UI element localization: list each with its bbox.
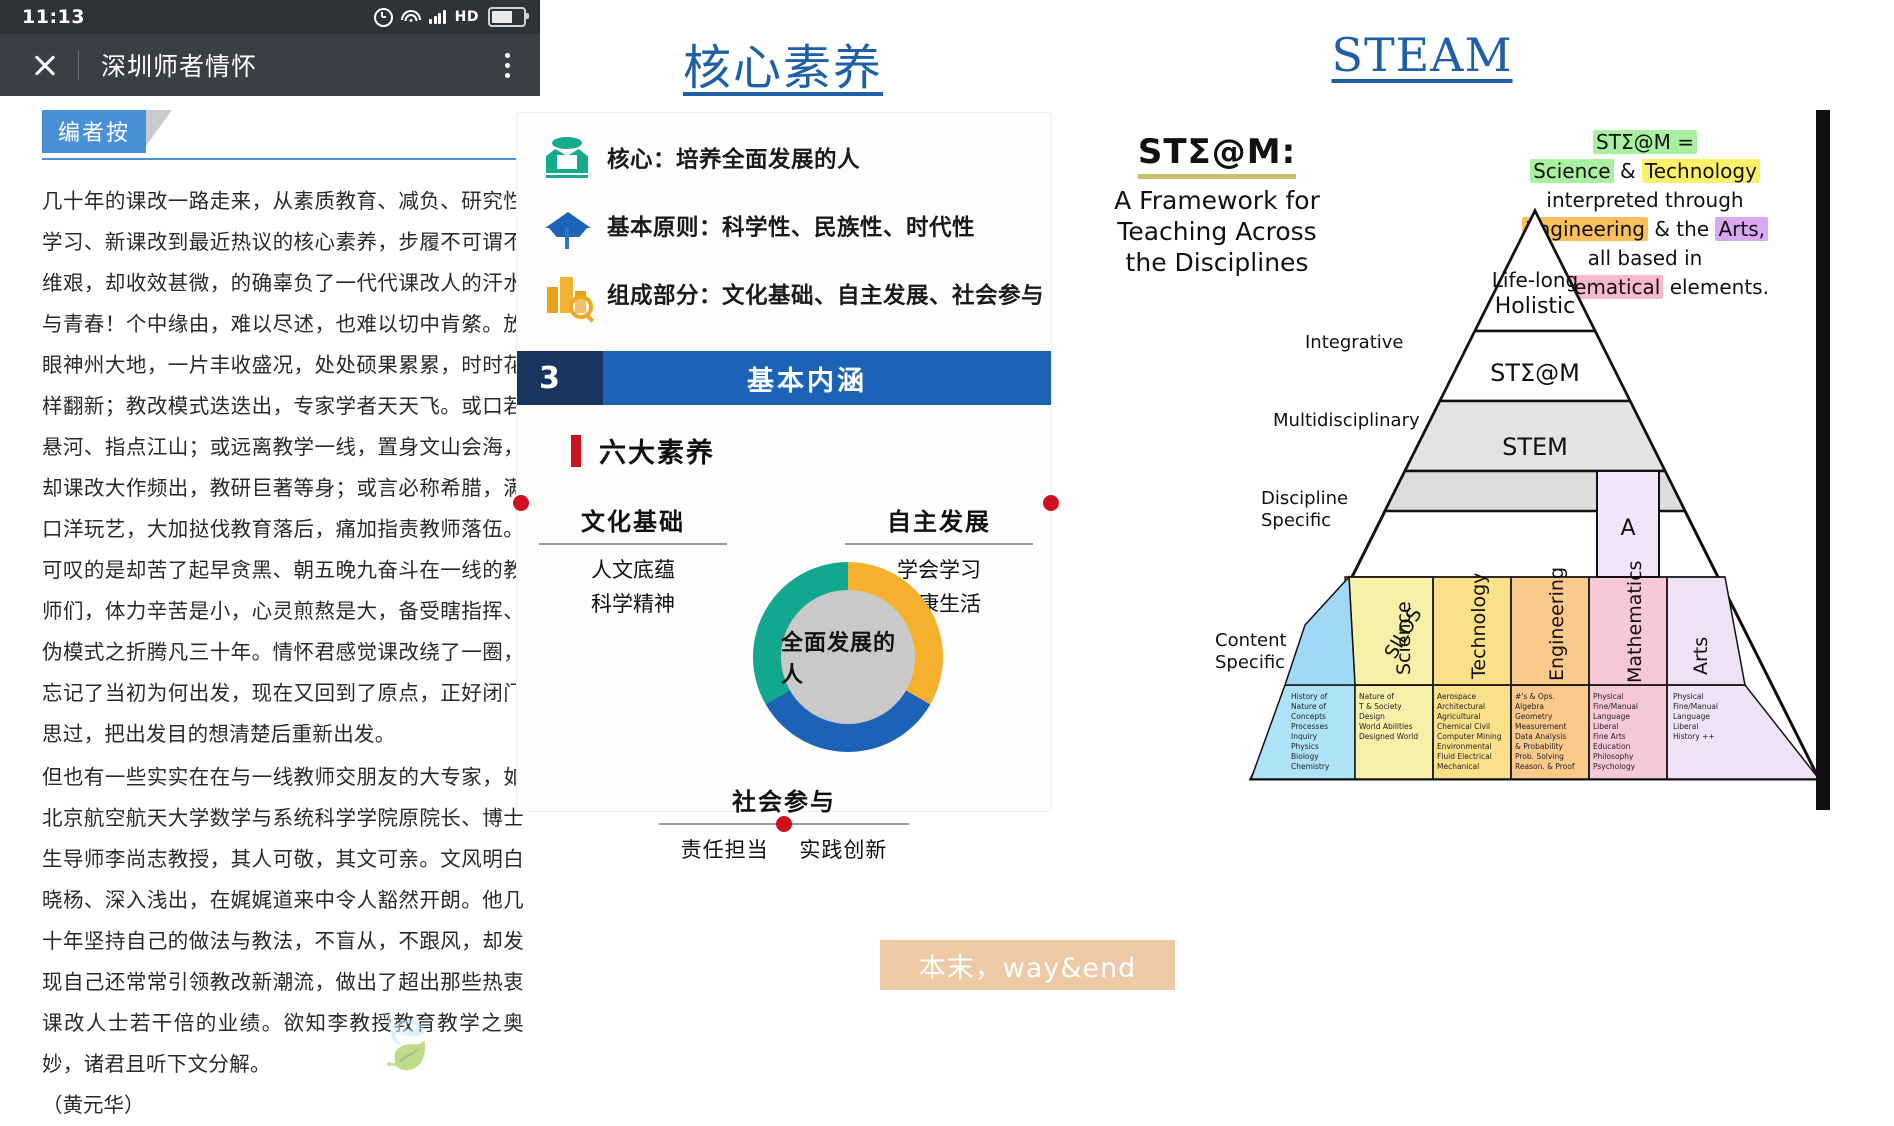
steam-heading-main: STΣ@M:	[1138, 132, 1296, 179]
svg-text:Nature of: Nature of	[1291, 702, 1326, 711]
tier-label-1: STΣ@M	[1490, 359, 1580, 387]
svg-text:Fine/Manual: Fine/Manual	[1593, 702, 1638, 711]
article-signature: （黄元华）	[42, 1085, 540, 1126]
person-reading-icon	[543, 135, 593, 181]
svg-text:Aerospace: Aerospace	[1437, 692, 1477, 701]
svg-text:Agricultural: Agricultural	[1437, 712, 1480, 721]
tier-label-arts: A	[1620, 516, 1635, 541]
svg-text:History of: History of	[1291, 692, 1328, 701]
bullet-label-components: 组成部分：文化基础、自主发展、社会参与	[607, 278, 1044, 310]
svg-text:Biology: Biology	[1291, 752, 1319, 761]
wifi-icon	[402, 10, 420, 24]
group-items-social: 责任担当 实践创新	[659, 833, 909, 867]
tag-fold-shape	[146, 110, 172, 146]
svg-text:Algebra: Algebra	[1515, 702, 1544, 711]
group-underline-social	[659, 823, 909, 825]
group-title-self: 自主发展	[845, 502, 1033, 537]
phone-status-bar: 11:13 HD	[0, 0, 540, 34]
donut-center-label: 全面发展的人	[781, 625, 915, 689]
svg-text:Nature of: Nature of	[1359, 692, 1394, 701]
svg-text:Mechanical: Mechanical	[1437, 762, 1479, 771]
column-label-technology: Technology	[1468, 573, 1490, 680]
svg-text:Data Analysis: Data Analysis	[1515, 732, 1566, 741]
svg-text:Measurement: Measurement	[1515, 722, 1567, 731]
bullet-item-core: 核心：培养全面发展的人	[517, 135, 1051, 181]
group-item-social-1: 责任担当	[681, 838, 769, 862]
section-header: 3 基本内涵	[517, 351, 1051, 405]
side-label-content-specific: Content Specific	[1215, 630, 1311, 674]
group-item-culture-2: 科学精神	[539, 587, 727, 621]
svg-text:Geometry: Geometry	[1515, 712, 1553, 721]
more-vertical-icon[interactable]	[505, 53, 510, 78]
bottom-caption: 本末，way&end	[880, 940, 1175, 990]
svg-text:Computer Mining: Computer Mining	[1437, 732, 1502, 741]
svg-text:Fluid Electrical: Fluid Electrical	[1437, 752, 1492, 761]
svg-text:Environmental: Environmental	[1437, 742, 1492, 751]
status-time: 11:13	[22, 6, 85, 28]
six-literacies-title: 六大素养	[599, 431, 715, 470]
svg-text:Language: Language	[1673, 712, 1710, 721]
alarm-icon	[374, 8, 393, 27]
appbar-divider	[78, 50, 79, 80]
section-title: 基本内涵	[603, 351, 1051, 405]
group-dot-self	[1043, 495, 1059, 511]
svg-text:Education: Education	[1593, 742, 1631, 751]
column-label-engineering: Engineering	[1546, 567, 1568, 681]
buildings-search-icon	[543, 271, 593, 317]
group-label-culture: 文化基础 人文底蕴 科学精神	[539, 502, 727, 621]
editor-note-tag-wrapper: 编者按	[42, 110, 146, 153]
core-literacy-panel: 核心素养 核心：培养全面发展的人 基本原则：科学性、民族性、时代性 组成部分：文…	[516, 0, 1050, 1065]
svg-text:Philosophy: Philosophy	[1593, 752, 1634, 761]
column-label-science: Science	[1393, 601, 1415, 675]
group-title-culture: 文化基础	[539, 502, 727, 537]
svg-text:Processes: Processes	[1291, 722, 1328, 731]
equation-line-1: STΣ@M =	[1500, 128, 1790, 157]
group-underline-self	[845, 543, 1033, 545]
editor-note-tag: 编者按	[42, 110, 146, 153]
group-item-social-2: 实践创新	[799, 838, 887, 862]
svg-text:World Abilities: World Abilities	[1359, 722, 1413, 731]
phone-app-bar: 深圳师者情怀	[0, 34, 540, 96]
svg-text:Psychology: Psychology	[1593, 762, 1636, 771]
svg-text:Concepts: Concepts	[1291, 712, 1326, 721]
core-literacy-title: 核心素养	[516, 28, 1050, 98]
six-literacies-heading: 六大素养	[571, 431, 1051, 470]
signal-icon	[429, 10, 446, 24]
svg-text:Liberal: Liberal	[1673, 722, 1698, 731]
section-number: 3	[517, 351, 603, 405]
phone-screenshot-panel: 11:13 HD 深圳师者情怀 编者按 几十年的课改一路走来，从素质教育、减负、…	[0, 0, 540, 1065]
tier-label-0a: Life-long	[1492, 268, 1578, 292]
decorative-branch-icon: 🍃	[366, 1002, 444, 1077]
bullet-item-principle: 基本原则：科学性、民族性、时代性	[517, 203, 1051, 249]
side-label-multidisciplinary: Multidisciplinary	[1273, 410, 1420, 431]
svg-text:Inquiry: Inquiry	[1291, 732, 1318, 741]
column-label-arts: Arts	[1690, 637, 1712, 675]
svg-text:Chemical Civil: Chemical Civil	[1437, 722, 1490, 731]
steam-pyramid-image: STΣ@M: A Framework for Teaching Across t…	[1075, 110, 1830, 810]
core-literacy-slide: 核心：培养全面发展的人 基本原则：科学性、民族性、时代性 组成部分：文化基础、自…	[516, 112, 1052, 812]
group-underline-culture	[539, 543, 727, 545]
svg-text:Language: Language	[1593, 712, 1630, 721]
app-title: 深圳师者情怀	[101, 47, 257, 83]
steam-panel: STEAM STΣ@M: A Framework for Teaching Ac…	[1060, 0, 1894, 1065]
literacy-donut-chart: 全面发展的人	[753, 562, 943, 752]
svg-text:Reason. & Proof: Reason. & Proof	[1515, 762, 1575, 771]
donut-center: 全面发展的人	[781, 590, 915, 724]
svg-text:Liberal: Liberal	[1593, 722, 1618, 731]
steam-title: STEAM	[1060, 28, 1784, 82]
svg-text:Chemistry: Chemistry	[1291, 762, 1330, 771]
equation-line-2: Science & Technology	[1500, 157, 1790, 186]
svg-text:Designed World: Designed World	[1359, 732, 1418, 741]
group-dot-culture	[513, 495, 529, 511]
svg-text:Fine/Manual: Fine/Manual	[1673, 702, 1718, 711]
bullet-list: 核心：培养全面发展的人 基本原则：科学性、民族性、时代性 组成部分：文化基础、自…	[517, 113, 1051, 347]
svg-text:Physical: Physical	[1673, 692, 1704, 701]
group-title-social: 社会参与	[659, 782, 909, 817]
bullet-label-principle: 基本原则：科学性、民族性、时代性	[607, 210, 975, 242]
red-accent-bar	[571, 435, 581, 467]
graduation-cap-icon	[543, 203, 593, 249]
close-icon[interactable]	[30, 50, 60, 80]
article-paragraph-2: 但也有一些实实在在与一线教师交朋友的大专家，如北京航空航天大学数学与系统科学学院…	[42, 757, 524, 1085]
article-body: 编者按 几十年的课改一路走来，从素质教育、减负、研究性学习、新课改到最近热议的核…	[0, 96, 540, 1065]
group-dot-social	[776, 816, 792, 832]
tier-label-0b: Holistic	[1495, 294, 1576, 319]
svg-text:Prob. Solving: Prob. Solving	[1515, 752, 1564, 761]
hd-icon: HD	[455, 9, 479, 25]
side-label-integrative: Integrative	[1305, 332, 1404, 353]
tier-label-2: STEM	[1502, 433, 1568, 461]
article-divider	[42, 158, 524, 160]
svg-text:Fine Arts: Fine Arts	[1593, 732, 1626, 741]
bullet-label-core: 核心：培养全面发展的人	[607, 142, 860, 174]
group-item-culture-1: 人文底蕴	[539, 553, 727, 587]
bullet-item-components: 组成部分：文化基础、自主发展、社会参与	[517, 271, 1051, 317]
svg-text:#'s & Ops.: #'s & Ops.	[1515, 692, 1555, 701]
group-label-social: 社会参与 责任担当 实践创新	[659, 782, 909, 867]
svg-text:Physical: Physical	[1593, 692, 1624, 701]
literacy-donut-diagram: 文化基础 人文底蕴 科学精神 自主发展 学会学习 健康生活 全面发展的人 社会参…	[517, 482, 1051, 902]
svg-text:& Probability: & Probability	[1515, 742, 1563, 751]
svg-text:T & Society: T & Society	[1358, 702, 1402, 711]
svg-text:Design: Design	[1359, 712, 1385, 721]
svg-text:History ++: History ++	[1673, 732, 1715, 741]
column-label-mathematics: Mathematics	[1624, 561, 1646, 683]
svg-text:Architectural: Architectural	[1437, 702, 1485, 711]
svg-text:Physics: Physics	[1291, 742, 1319, 751]
side-label-discipline-specific: Discipline Specific	[1261, 488, 1351, 532]
article-paragraph-1: 几十年的课改一路走来，从素质教育、减负、研究性学习、新课改到最近热议的核心素养，…	[42, 181, 524, 755]
